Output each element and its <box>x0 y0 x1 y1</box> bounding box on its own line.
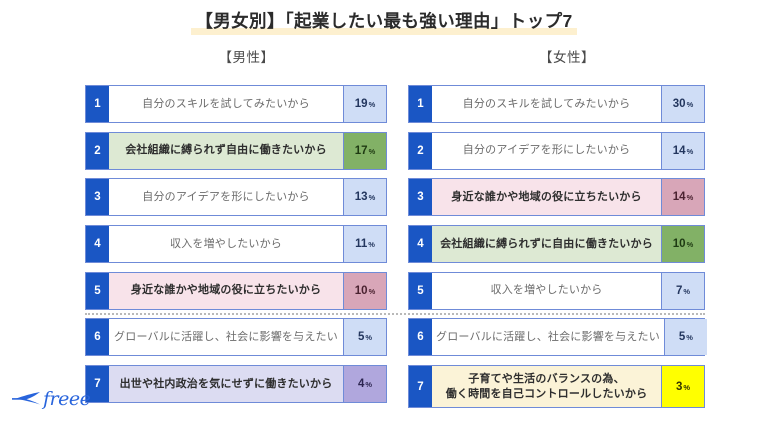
male-rank-badge-1: 1 <box>86 86 109 122</box>
male-percent-value-3: 13% <box>343 179 386 215</box>
ranking-row: 7子育てや生活のバランスの為、働く時間を自己コントロールしたいから3% <box>408 365 705 408</box>
percent-number: 5 <box>679 331 685 343</box>
ranking-row: 4収入を増やしたいから11% <box>85 225 387 263</box>
percent-symbol: % <box>687 147 694 156</box>
female-reason-label-6: グローバルに活躍し、社会に影響を与えたい <box>432 319 664 355</box>
female-percent-value-1: 30% <box>661 86 704 122</box>
male-reason-label-2: 会社組織に縛られず自由に働きたいから <box>109 133 343 169</box>
male-rank-badge-3: 3 <box>86 179 109 215</box>
percent-symbol: % <box>687 100 694 109</box>
female-percent-value-6: 5% <box>664 319 707 355</box>
male-percent-value-7: 4% <box>343 366 386 402</box>
ranking-row: 3自分のアイデアを形にしたいから13% <box>85 178 387 216</box>
female-percent-value-5: 7% <box>661 273 704 309</box>
percent-symbol: % <box>369 147 376 156</box>
male-percent-value-6: 5% <box>343 319 386 355</box>
female-percent-value-7: 3% <box>661 366 704 407</box>
percent-number: 30 <box>673 98 686 110</box>
male-reason-label-7: 出世や社内政治を気にせずに働きたいから <box>109 366 343 402</box>
female-ranking-list: 1自分のスキルを試してみたいから30%2自分のアイデアを形にしたいから14%3身… <box>408 85 705 417</box>
percent-symbol: % <box>687 193 694 202</box>
ranking-row: 7出世や社内政治を気にせずに働きたいから4% <box>85 365 387 403</box>
percent-number: 14 <box>673 191 686 203</box>
ranking-row: 6グローバルに活躍し、社会に影響を与えたい5% <box>408 318 705 356</box>
female-reason-label-1: 自分のスキルを試してみたいから <box>432 86 661 122</box>
percent-symbol: % <box>683 383 690 392</box>
ranking-row: 3身近な誰かや地域の役に立ちたいから14% <box>408 178 705 216</box>
male-rank-badge-4: 4 <box>86 226 109 262</box>
percent-number: 5 <box>358 331 364 343</box>
ranking-row: 2会社組織に縛られず自由に働きたいから17% <box>85 132 387 170</box>
ranking-row: 4会社組織に縛られずに自由に働きたいから10% <box>408 225 705 263</box>
ranking-row: 2自分のアイデアを形にしたいから14% <box>408 132 705 170</box>
title-bar: 【男女別】「起業したい最も強い理由」トップ7 <box>0 0 768 35</box>
male-percent-value-5: 10% <box>343 273 386 309</box>
female-reason-label-4: 会社組織に縛られずに自由に働きたいから <box>432 226 661 262</box>
column-headers: 【男性】 【女性】 <box>0 46 768 66</box>
percent-number: 3 <box>676 381 682 393</box>
male-reason-label-3: 自分のアイデアを形にしたいから <box>109 179 343 215</box>
female-rank-badge-7: 7 <box>409 366 432 407</box>
female-reason-label-7: 子育てや生活のバランスの為、働く時間を自己コントロールしたいから <box>432 366 661 407</box>
male-reason-label-5: 身近な誰かや地域の役に立ちたいから <box>109 273 343 309</box>
percent-symbol: % <box>365 333 372 342</box>
male-percent-value-1: 19% <box>343 86 386 122</box>
percent-symbol: % <box>368 240 375 249</box>
freee-arrow-icon <box>10 387 44 411</box>
female-rank-badge-4: 4 <box>409 226 432 262</box>
male-ranking-list: 1自分のスキルを試してみたいから19%2会社組織に縛られず自由に働きたいから17… <box>85 85 387 412</box>
ranking-row: 5収入を増やしたいから7% <box>408 272 705 310</box>
percent-symbol: % <box>369 193 376 202</box>
male-rank-badge-5: 5 <box>86 273 109 309</box>
male-column-header: 【男性】 <box>85 46 408 66</box>
ranking-row: 1自分のスキルを試してみたいから30% <box>408 85 705 123</box>
percent-number: 7 <box>676 285 682 297</box>
percent-number: 4 <box>358 378 364 390</box>
ranking-row: 5身近な誰かや地域の役に立ちたいから10% <box>85 272 387 310</box>
percent-symbol: % <box>369 287 376 296</box>
female-reason-label-5: 収入を増やしたいから <box>432 273 661 309</box>
female-percent-value-4: 10% <box>661 226 704 262</box>
ranking-boards: 1自分のスキルを試してみたいから19%2会社組織に縛られず自由に働きたいから17… <box>0 85 768 425</box>
ranking-row: 6グローバルに活躍し、社会に影響を与えたい5% <box>85 318 387 356</box>
percent-symbol: % <box>686 333 693 342</box>
percent-number: 17 <box>355 145 368 157</box>
male-percent-value-2: 17% <box>343 133 386 169</box>
page-title: 【男女別】「起業したい最も強い理由」トップ7 <box>191 11 576 35</box>
male-reason-label-6: グローバルに活躍し、社会に影響を与えたい <box>109 319 343 355</box>
percent-number: 11 <box>355 238 367 250</box>
percent-number: 10 <box>673 238 686 250</box>
percent-symbol: % <box>369 100 376 109</box>
female-reason-label-2: 自分のアイデアを形にしたいから <box>432 133 661 169</box>
female-rank-badge-6: 6 <box>409 319 432 355</box>
freee-logo[interactable]: freee <box>10 387 90 411</box>
percent-number: 13 <box>355 191 368 203</box>
female-column-header: 【女性】 <box>426 46 708 66</box>
percent-number: 19 <box>355 98 368 110</box>
female-rank-badge-3: 3 <box>409 179 432 215</box>
percent-symbol: % <box>683 287 690 296</box>
percent-number: 14 <box>673 145 686 157</box>
male-reason-label-4: 収入を増やしたいから <box>109 226 343 262</box>
percent-symbol: % <box>687 240 694 249</box>
male-percent-value-4: 11% <box>343 226 386 262</box>
freee-logo-text: freee <box>43 390 90 409</box>
ranking-row: 1自分のスキルを試してみたいから19% <box>85 85 387 123</box>
female-rank-badge-1: 1 <box>409 86 432 122</box>
male-reason-label-1: 自分のスキルを試してみたいから <box>109 86 343 122</box>
female-rank-badge-2: 2 <box>409 133 432 169</box>
female-rank-badge-5: 5 <box>409 273 432 309</box>
top3-divider <box>85 313 705 315</box>
female-percent-value-3: 14% <box>661 179 704 215</box>
percent-number: 10 <box>355 285 368 297</box>
female-reason-label-3: 身近な誰かや地域の役に立ちたいから <box>432 179 661 215</box>
male-rank-badge-6: 6 <box>86 319 109 355</box>
percent-symbol: % <box>365 380 372 389</box>
female-percent-value-2: 14% <box>661 133 704 169</box>
male-rank-badge-2: 2 <box>86 133 109 169</box>
